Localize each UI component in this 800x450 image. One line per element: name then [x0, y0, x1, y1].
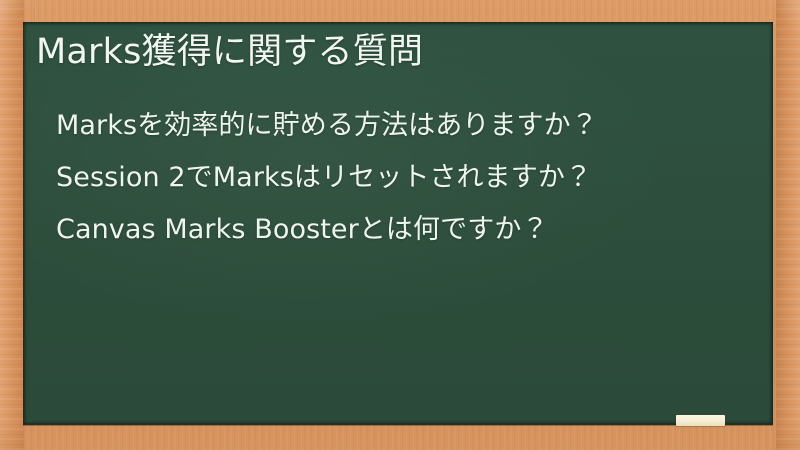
chalkboard-slide: Marks獲得に関する質問 Marksを効率的に貯める方法はありますか？ Ses… — [0, 0, 800, 450]
chalk-stick-icon — [676, 415, 725, 426]
chalkboard-bottom-shadow — [23, 423, 773, 426]
slide-title: Marks獲得に関する質問 — [36, 28, 736, 76]
frame-rail-left — [0, 0, 24, 450]
question-list: Marksを効率的に貯める方法はありますか？ Session 2でMarksはリ… — [56, 100, 746, 256]
question-item-2: Session 2でMarksはリセットされますか？ — [56, 152, 746, 204]
question-item-3: Canvas Marks Boosterとは何ですか？ — [56, 204, 746, 256]
frame-rail-right — [776, 0, 800, 450]
question-item-1: Marksを効率的に貯める方法はありますか？ — [56, 100, 746, 152]
